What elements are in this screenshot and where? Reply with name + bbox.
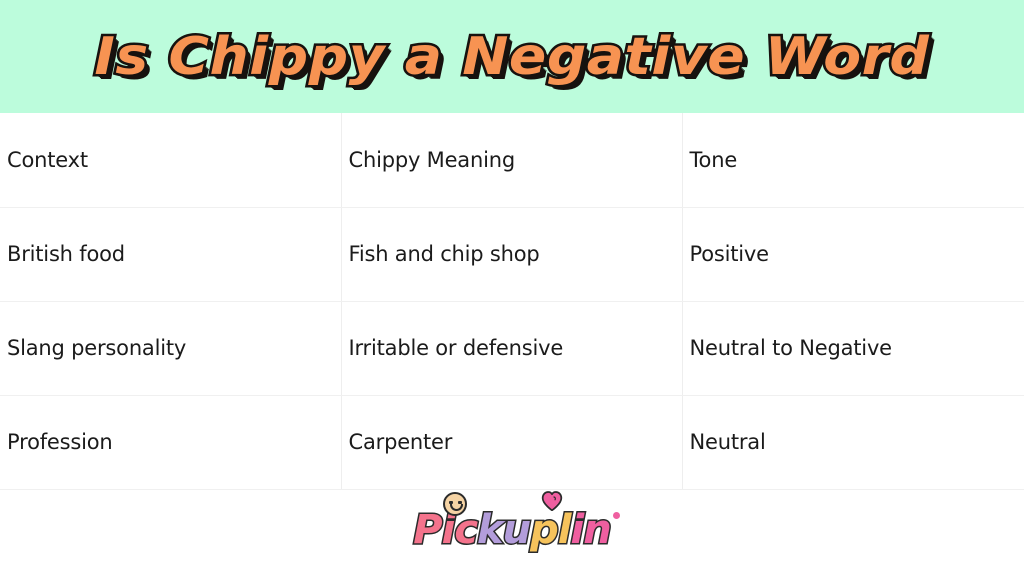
- column-header-chippy-meaning: Chippy Meaning: [341, 113, 682, 207]
- table-row: Profession Carpenter Neutral: [0, 395, 1024, 489]
- logo-letter-p2: p: [530, 510, 558, 550]
- logo-letter-i1: i: [442, 510, 455, 550]
- heart-icon: [541, 491, 563, 511]
- cell-tone: Neutral to Negative: [682, 301, 1024, 395]
- infographic-page: Is Chippy a Negative Word Context Chippy…: [0, 0, 1024, 576]
- title-banner: Is Chippy a Negative Word: [0, 0, 1024, 113]
- logo-letter-l: l: [558, 510, 571, 550]
- column-header-tone: Tone: [682, 113, 1024, 207]
- cell-meaning: Carpenter: [341, 395, 682, 489]
- table-row: Slang personality Irritable or defensive…: [0, 301, 1024, 395]
- brand-logo: Pickuplin: [0, 500, 1024, 560]
- trademark-dot-icon: [613, 512, 620, 519]
- cell-meaning: Fish and chip shop: [341, 207, 682, 301]
- cell-context: British food: [0, 207, 341, 301]
- comparison-table-wrapper: Context Chippy Meaning Tone British food…: [0, 113, 1024, 490]
- logo-letter-u: u: [503, 510, 530, 550]
- column-header-context: Context: [0, 113, 341, 207]
- table-header-row: Context Chippy Meaning Tone: [0, 113, 1024, 207]
- logo-letter-k: k: [477, 510, 503, 550]
- table-row: British food Fish and chip shop Positive: [0, 207, 1024, 301]
- cell-tone: Neutral: [682, 395, 1024, 489]
- logo-wordmark: Pickuplin: [413, 510, 610, 550]
- page-title: Is Chippy a Negative Word: [95, 27, 930, 87]
- cell-context: Profession: [0, 395, 341, 489]
- logo-letter-p1: P: [413, 510, 441, 550]
- logo-letter-i2: i: [571, 510, 584, 550]
- logo-inner: Pickuplin: [413, 510, 610, 550]
- logo-letter-n: n: [583, 510, 610, 550]
- smiley-mouth: [450, 504, 463, 511]
- chippy-meaning-table: Context Chippy Meaning Tone British food…: [0, 113, 1024, 490]
- cell-meaning: Irritable or defensive: [341, 301, 682, 395]
- logo-letter-c: c: [454, 510, 477, 550]
- cell-tone: Positive: [682, 207, 1024, 301]
- cell-context: Slang personality: [0, 301, 341, 395]
